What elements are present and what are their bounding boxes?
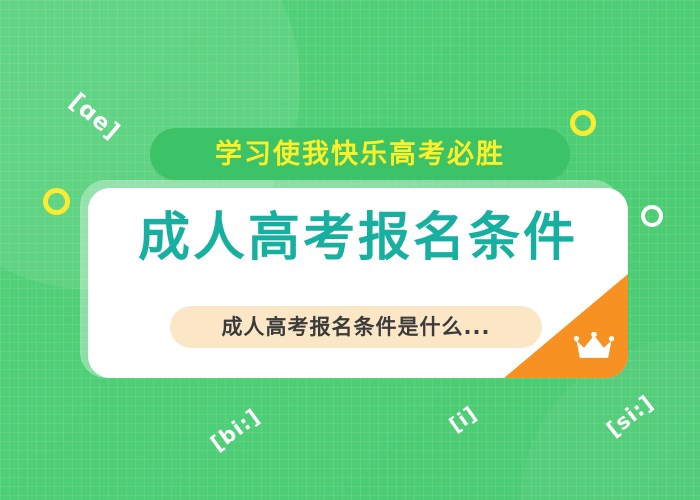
tagline-banner: 学习使我快乐高考必胜 bbox=[150, 128, 570, 180]
decorative-ring-yellow-left bbox=[43, 188, 70, 215]
subtitle-text: 成人高考报名条件是什么... bbox=[222, 317, 491, 338]
tagline-text: 学习使我快乐高考必胜 bbox=[215, 141, 505, 168]
crown-icon bbox=[574, 332, 614, 362]
phonetic-decoration-bi: [bi:] bbox=[206, 404, 264, 456]
decorative-ring-yellow-top bbox=[570, 110, 596, 136]
decorative-ring-white-right bbox=[641, 205, 663, 227]
main-card: 成人高考报名条件 成人高考报名条件是什么... bbox=[88, 188, 628, 378]
subtitle-pill: 成人高考报名条件是什么... bbox=[170, 306, 542, 348]
phonetic-decoration-i: [i] bbox=[445, 401, 482, 437]
poster-canvas: [ɑe] [bi:] [i] [si:] 学习使我快乐高考必胜 成人高考报名条件… bbox=[0, 0, 700, 500]
page-title: 成人高考报名条件 bbox=[88, 212, 628, 264]
